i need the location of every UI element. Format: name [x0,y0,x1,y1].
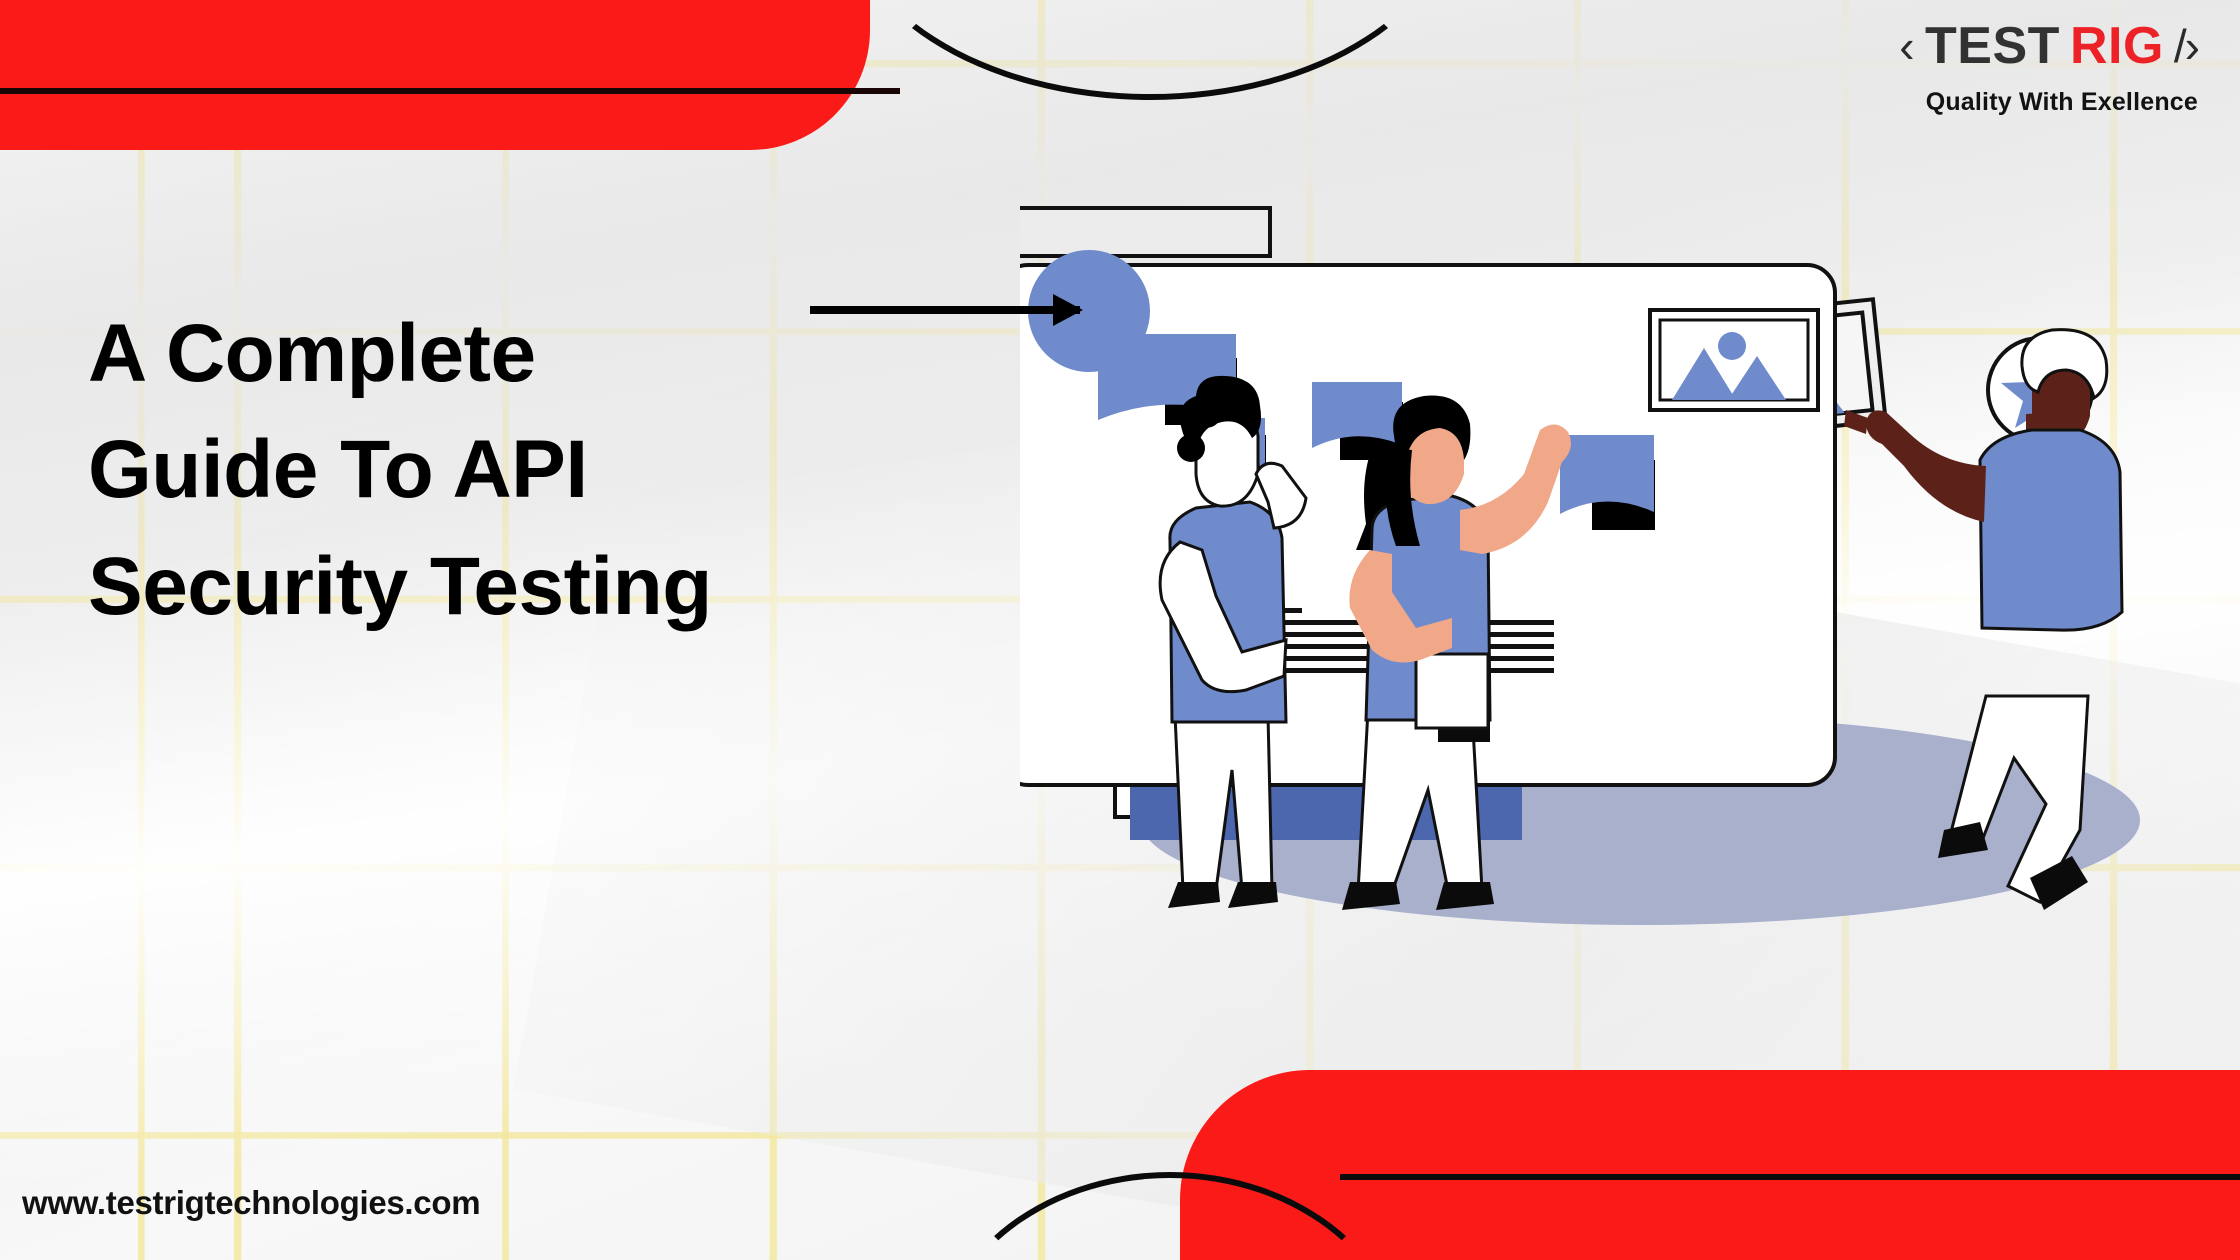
logo-tagline: Quality With Exellence [1899,88,2198,117]
accent-arc-top [840,0,1460,100]
logo-wordmark: ‹TESTRIG /› [1899,20,2198,72]
banner-canvas: ‹TESTRIG /› Quality With Exellence A Com… [0,0,2240,1260]
page-title: A Complete Guide To API Security Testing [88,296,968,645]
logo-open-bracket-icon: ‹ [1899,23,1915,69]
brand-logo[interactable]: ‹TESTRIG /› Quality With Exellence [1899,20,2198,117]
headline-line-3: Security Testing [88,529,968,645]
arrow-head-icon [1053,294,1083,326]
logo-text-red: RIG [2070,20,2164,72]
accent-line-bottom [1340,1174,2240,1180]
logo-close-slash-icon: /› [2174,23,2198,69]
hero-illustration [1020,130,2220,1130]
logo-text-dark: TEST [1925,20,2060,72]
headline-line-2: Guide To API [88,412,968,528]
red-accent-top-left [0,0,870,150]
accent-line-top [0,88,900,94]
headline-line-1: A Complete [88,296,968,412]
website-url[interactable]: www.testrigtechnologies.com [22,1184,480,1222]
image-placeholder-card [1650,310,1818,410]
